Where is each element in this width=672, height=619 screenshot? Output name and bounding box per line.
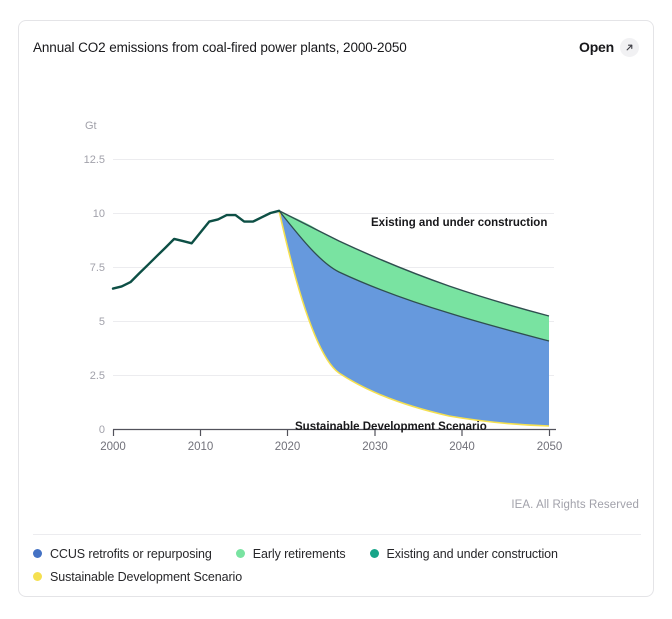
svg-text:7.5: 7.5 [90,262,105,274]
legend-dot-icon [33,549,42,558]
chart-plot: Gt 12.5 10 7.5 5 2.5 0 [19,73,655,493]
svg-text:2010: 2010 [188,441,214,453]
svg-text:2020: 2020 [275,441,301,453]
legend-label: Early retirements [253,547,346,561]
svg-text:0: 0 [99,424,105,436]
legend-dot-icon [33,572,42,581]
legend-label: Existing and under construction [387,547,558,561]
y-axis-ticks: 12.5 10 7.5 5 2.5 0 [84,154,105,436]
svg-text:2000: 2000 [100,441,126,453]
open-button[interactable]: Open [579,38,639,57]
svg-text:2.5: 2.5 [90,370,105,382]
chart-legend: CCUS retrofits or repurposing Early reti… [33,542,641,588]
svg-text:2030: 2030 [362,441,388,453]
y-axis-unit-label: Gt [85,120,97,132]
legend-item-early-retirements[interactable]: Early retirements [236,542,346,565]
legend-label: Sustainable Development Scenario [50,570,242,584]
legend-item-sustainable-development-scenario[interactable]: Sustainable Development Scenario [33,565,617,588]
x-axis-ticks: 2000 2010 2020 2030 2040 2050 [100,441,562,453]
legend-dot-icon [236,549,245,558]
legend-item-existing-under-construction[interactable]: Existing and under construction [370,542,558,565]
attribution-text: IEA. All Rights Reserved [511,499,639,511]
svg-text:10: 10 [93,208,105,220]
card-header: Annual CO2 emissions from coal-fired pow… [19,21,653,73]
legend-dot-icon [370,549,379,558]
external-link-arrow-icon [620,38,639,57]
svg-text:12.5: 12.5 [84,154,105,166]
svg-text:5: 5 [99,316,105,328]
annotation-existing-under-construction: Existing and under construction [371,217,547,229]
legend-item-ccus-retrofits[interactable]: CCUS retrofits or repurposing [33,542,212,565]
chart-card: Annual CO2 emissions from coal-fired pow… [18,20,654,597]
chart-svg: Gt 12.5 10 7.5 5 2.5 0 [19,73,655,493]
legend-divider [33,534,641,535]
svg-text:2050: 2050 [537,441,563,453]
svg-text:2040: 2040 [449,441,475,453]
legend-label: CCUS retrofits or repurposing [50,547,212,561]
series-line-historical [113,211,279,289]
page-title: Annual CO2 emissions from coal-fired pow… [33,40,407,55]
annotation-sustainable-development-scenario: Sustainable Development Scenario [295,421,487,433]
page-background: Annual CO2 emissions from coal-fired pow… [0,0,672,619]
open-button-label: Open [579,39,614,55]
